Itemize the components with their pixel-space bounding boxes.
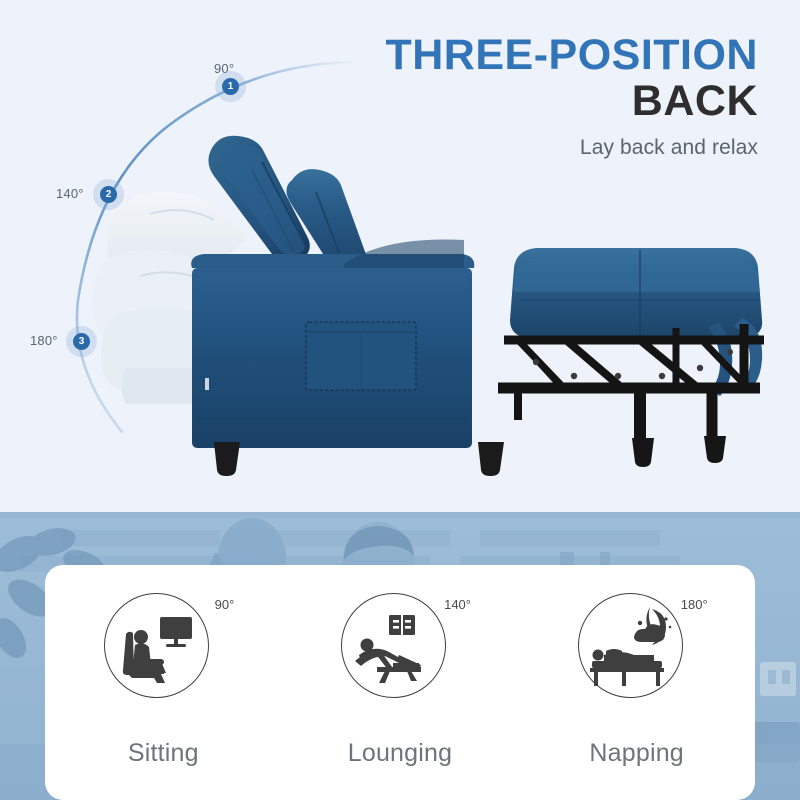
- feature-label-napping: Napping: [589, 739, 684, 768]
- person-sitting-watching-tv-icon: [104, 593, 209, 698]
- headline-line-2: BACK: [385, 77, 758, 125]
- headline-subtitle: Lay back and relax: [385, 136, 758, 160]
- icon-wrap-lounging: 140°: [341, 593, 459, 711]
- hero-section: 90° 1 140° 2 180° 3 THREE-POSITION BACK …: [0, 0, 800, 512]
- feature-angle-lounging: 140°: [444, 597, 471, 612]
- position-marker-2[interactable]: 2: [100, 186, 117, 203]
- position-marker-3[interactable]: 3: [73, 333, 90, 350]
- feature-label-sitting: Sitting: [128, 739, 199, 768]
- feature-sitting: 90° Sitting: [63, 593, 263, 768]
- feature-lounging: 140° Lounging: [300, 593, 500, 768]
- angle-label-2: 140°: [56, 186, 84, 201]
- feature-card: 90° Sitting: [45, 565, 755, 800]
- headline-line-1: THREE-POSITION: [385, 34, 758, 77]
- feature-label-lounging: Lounging: [348, 739, 452, 768]
- angle-label-1: 90°: [214, 61, 234, 76]
- feature-angle-sitting: 90°: [215, 597, 235, 612]
- icon-wrap-sitting: 90°: [104, 593, 222, 711]
- position-marker-1[interactable]: 1: [222, 78, 239, 95]
- person-lying-on-bed-moon-icon: [578, 593, 683, 698]
- headline-block: THREE-POSITION BACK Lay back and relax: [385, 34, 758, 160]
- angle-label-3: 180°: [30, 333, 58, 348]
- feature-angle-napping: 180°: [681, 597, 708, 612]
- person-reclining-reading-book-icon: [341, 593, 446, 698]
- feature-napping: 180° Napping: [537, 593, 737, 768]
- icon-wrap-napping: 180°: [578, 593, 696, 711]
